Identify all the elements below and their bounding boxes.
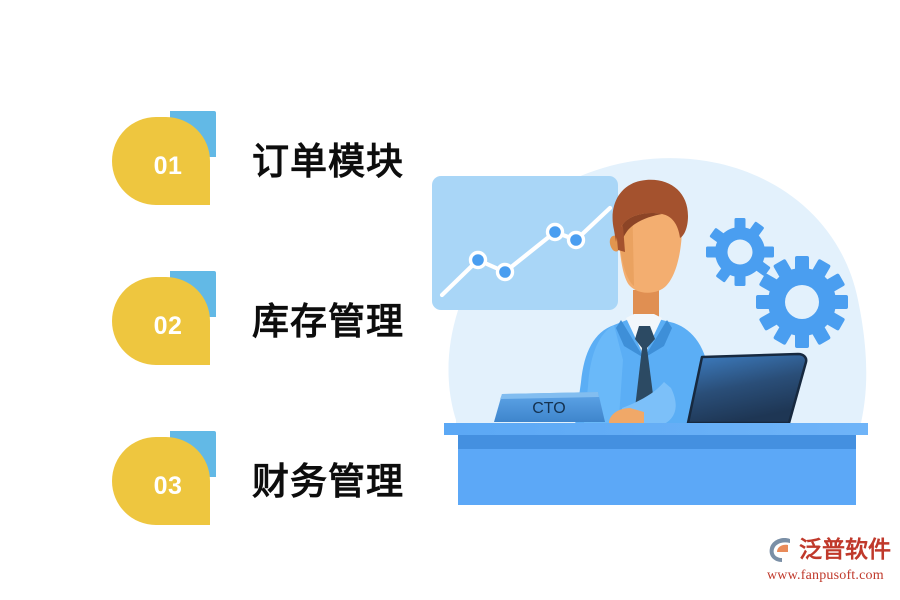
watermark-brand-row: 泛普软件 [766,532,892,566]
badge-number: 03 [154,474,183,499]
badge-leaf-shape: 01 [112,117,210,205]
module-label: 财务管理 [252,451,404,505]
business-illustration: CTO [418,120,888,520]
list-item[interactable]: 02 库存管理 [112,268,432,368]
badge-leaf-shape: 02 [112,277,210,365]
badge-number: 01 [154,154,183,179]
module-label: 库存管理 [252,291,404,345]
watermark: 泛普软件 www.fanpusoft.com [766,532,892,588]
badge-leaf-shape: 03 [112,437,210,525]
desk [444,423,868,505]
badge-03: 03 [112,431,216,525]
module-label: 订单模块 [252,131,404,185]
watermark-brand: 泛普软件 [799,538,891,561]
badge-number: 02 [154,314,183,339]
nameplate-text: CTO [532,400,565,417]
badge-01: 01 [112,111,216,205]
laptop [688,354,806,423]
watermark-url: www.fanpusoft.com [767,569,892,583]
chart-panel [432,176,618,310]
list-item[interactable]: 03 财务管理 [112,428,432,528]
desk-nameplate: CTO [494,392,605,422]
fanpu-logo-icon [766,534,796,564]
module-list: 01 订单模块 02 库存管理 03 财务管理 [0,0,430,600]
slide-canvas: 01 订单模块 02 库存管理 03 财务管理 [0,0,900,600]
list-item[interactable]: 01 订单模块 [112,108,432,208]
badge-02: 02 [112,271,216,365]
